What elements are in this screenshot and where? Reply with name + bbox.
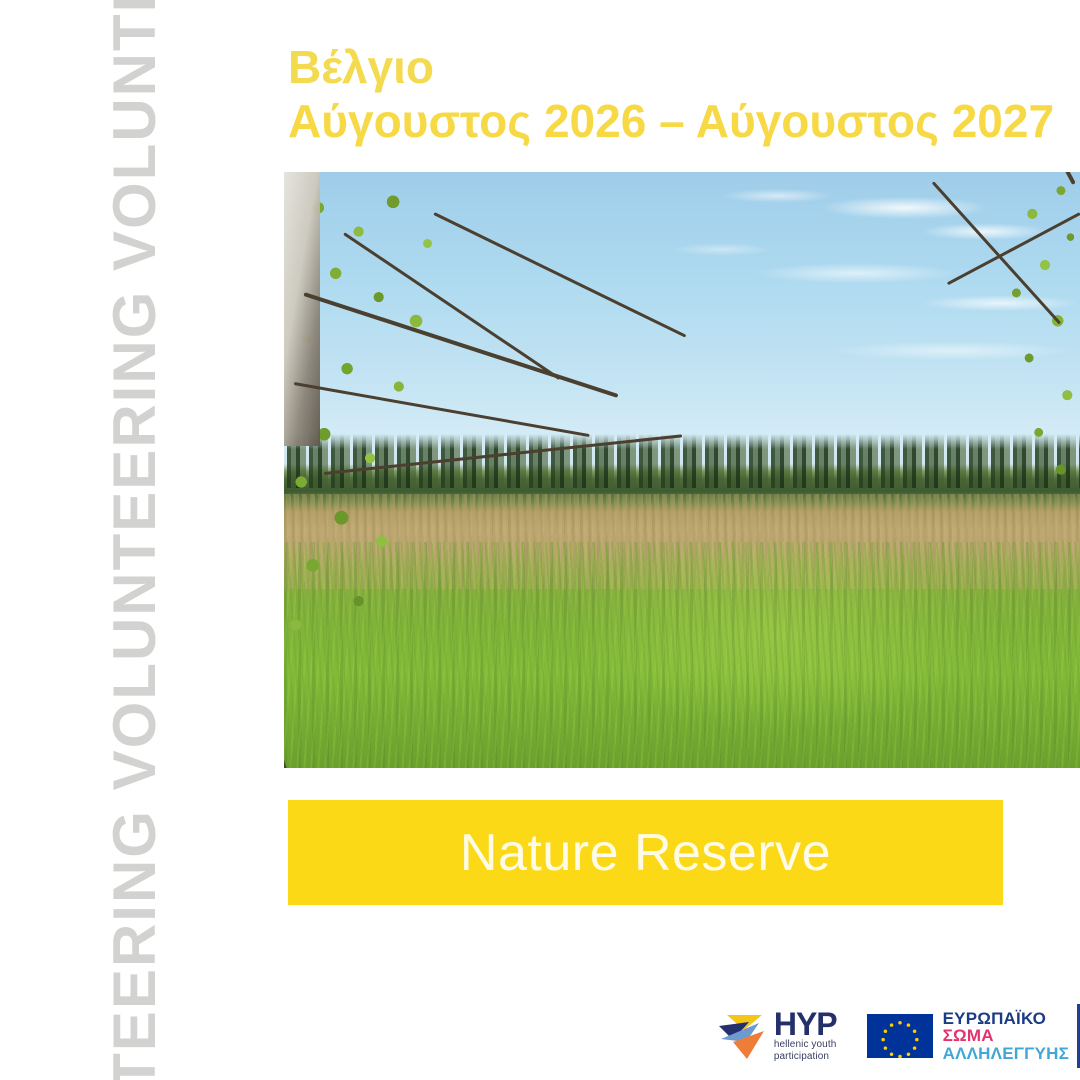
watermark-text: VOLUNTEERING VOLUNTEERING VOLUNTEERING: [105, 0, 165, 1080]
header-titles: Βέλγιο Αύγουστος 2026 – Αύγουστος 2027: [288, 40, 1068, 149]
hyp-subtitle-line2: participation: [774, 1051, 837, 1063]
hyp-abbr: HYP: [774, 1010, 837, 1039]
photo-birch-trunk: [284, 172, 320, 446]
eu-line-1: ΕΥΡΩΠΑΪΚΟ: [943, 1010, 1069, 1027]
page-title-country: Βέλγιο: [288, 40, 1068, 94]
eu-flag-icon: [867, 1014, 933, 1058]
eu-line-3: ΑΛΛΗΛΕΓΓΥΗΣ: [943, 1045, 1069, 1062]
eu-solidarity-corps-logo: ΕΥΡΩΠΑΪΚΟ ΣΩΜΑ ΑΛΛΗΛΕΓΓΥΗΣ: [861, 1004, 1080, 1068]
hyp-wordmark: HYP hellenic youth participation: [774, 1010, 837, 1062]
photo-birch-foliage-right: [921, 172, 1080, 637]
photo-birch-foliage-left: [284, 172, 571, 768]
eu-wordmark: ΕΥΡΩΠΑΪΚΟ ΣΩΜΑ ΑΛΛΗΛΕΓΓΥΗΣ: [943, 1010, 1069, 1062]
page-title-dates: Αύγουστος 2026 – Αύγουστος 2027: [288, 94, 1068, 149]
nature-photo: [284, 172, 1080, 768]
caption-banner: Nature Reserve: [288, 800, 1003, 905]
footer-logos: HYP hellenic youth participation: [706, 1000, 1080, 1072]
eu-line-2: ΣΩΜΑ: [943, 1027, 1069, 1044]
caption-text: Nature Reserve: [460, 823, 831, 883]
vertical-watermark-strip: VOLUNTEERING VOLUNTEERING VOLUNTEERING: [0, 0, 270, 1080]
hyp-subtitle-line1: hellenic youth: [774, 1039, 837, 1051]
hyp-arrow-icon: [716, 1011, 768, 1061]
hyp-logo: HYP hellenic youth participation: [706, 1000, 847, 1072]
